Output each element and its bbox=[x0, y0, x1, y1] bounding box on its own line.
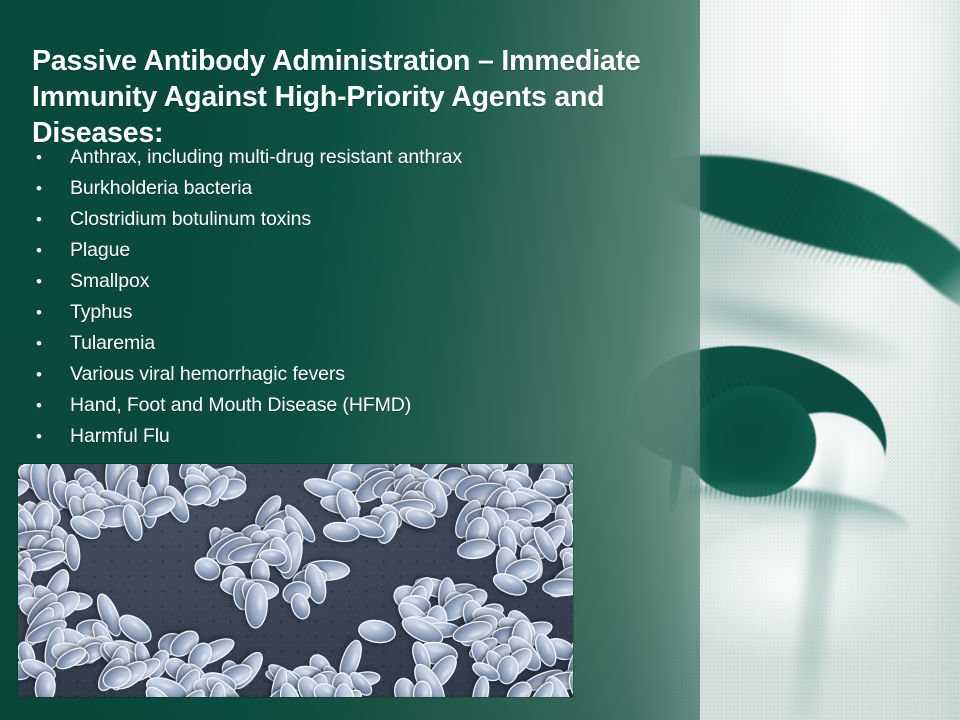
list-item-label: Smallpox bbox=[70, 270, 149, 292]
disease-list: • Anthrax, including multi-drug resistan… bbox=[32, 142, 682, 452]
slide-title: Passive Antibody Administration – Immedi… bbox=[32, 43, 682, 151]
list-item: • Harmful Flu bbox=[32, 421, 682, 452]
bullet-icon: • bbox=[36, 359, 50, 390]
list-item: • Smallpox bbox=[32, 266, 682, 297]
list-item-label: Plague bbox=[70, 239, 130, 261]
list-item-label: Tularemia bbox=[70, 332, 155, 354]
list-item: • Anthrax, including multi-drug resistan… bbox=[32, 142, 682, 173]
bullet-icon: • bbox=[36, 142, 50, 173]
list-item-label: Various viral hemorrhagic fevers bbox=[70, 363, 345, 385]
bullet-icon: • bbox=[36, 173, 50, 204]
list-item-label: Clostridium botulinum toxins bbox=[70, 208, 311, 230]
bullet-icon: • bbox=[36, 204, 50, 235]
list-item: • Tularemia bbox=[32, 328, 682, 359]
bullet-icon: • bbox=[36, 390, 50, 421]
list-item: • Burkholderia bacteria bbox=[32, 173, 682, 204]
slide-canvas: Passive Antibody Administration – Immedi… bbox=[0, 0, 960, 720]
anthrax-spores-micrograph bbox=[18, 464, 573, 697]
list-item: • Plague bbox=[32, 235, 682, 266]
bullet-icon: • bbox=[36, 328, 50, 359]
list-item-label: Typhus bbox=[70, 301, 132, 323]
list-item-label: Harmful Flu bbox=[70, 425, 170, 447]
bullet-icon: • bbox=[36, 297, 50, 328]
list-item-label: Anthrax, including multi-drug resistant … bbox=[70, 146, 462, 168]
list-item-label: Hand, Foot and Mouth Disease (HFMD) bbox=[70, 394, 411, 416]
bullet-icon: • bbox=[36, 421, 50, 452]
list-item: • Hand, Foot and Mouth Disease (HFMD) bbox=[32, 390, 682, 421]
bullet-icon: • bbox=[36, 235, 50, 266]
list-item-label: Burkholderia bacteria bbox=[70, 177, 252, 199]
list-item: • Typhus bbox=[32, 297, 682, 328]
list-item: • Clostridium botulinum toxins bbox=[32, 204, 682, 235]
list-item: • Various viral hemorrhagic fevers bbox=[32, 359, 682, 390]
bullet-icon: • bbox=[36, 266, 50, 297]
